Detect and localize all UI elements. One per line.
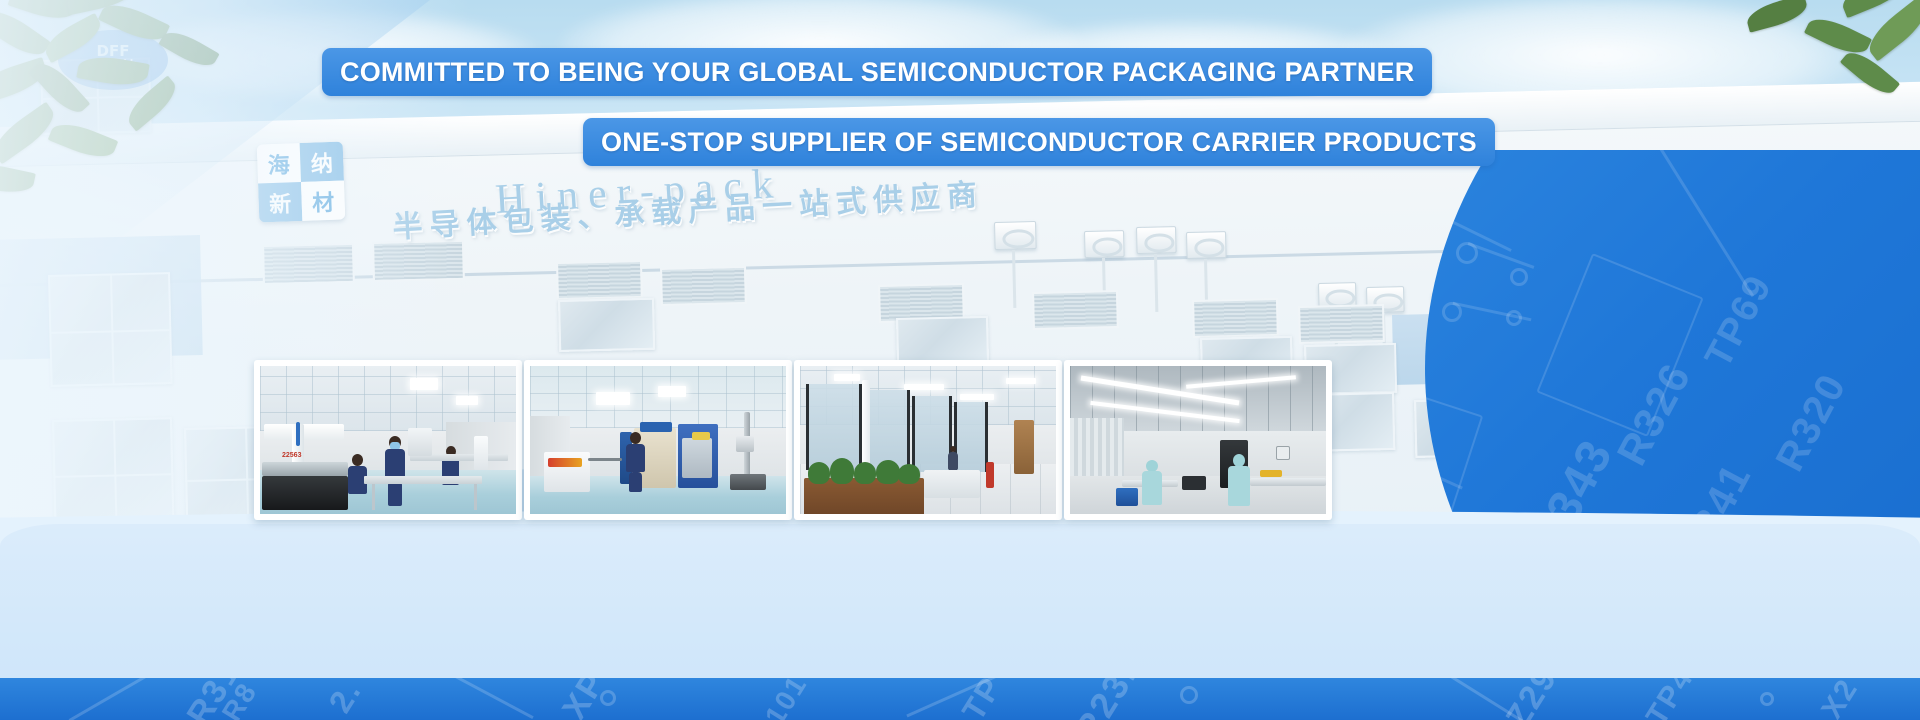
pcb-trace-line [69,678,192,720]
wall-panel-display [692,432,710,440]
photo-thumbnail-strip: 22563 [0,0,1920,720]
pcb-trace-line [426,678,533,719]
pcb-pad-icon [1180,686,1198,704]
banner-stage: 海 纳 新 材 Hiner-pack 半导体包装、承载产品一站式供应商 DFF … [0,0,1920,720]
glass-partition [912,396,952,472]
photo-card-office[interactable] [794,360,1062,520]
gowned-operator [1142,460,1162,508]
pcb-code-text: R23K [1066,678,1155,720]
cmm-granite-base [262,462,348,476]
equipment-box [1182,476,1206,490]
office-area-photo [800,366,1056,514]
pcb-code-text: X2 [1815,678,1865,720]
test-chamber-blue-door [682,438,712,478]
technician [626,432,646,490]
photo-card-testing-lab[interactable] [524,360,792,520]
cmm-probe [296,422,300,446]
cmm-cabinet [262,476,348,510]
pcb-code-text: XP [555,678,614,720]
yellow-tray [1260,470,1282,477]
drop-test-base [730,474,766,490]
photo-card-cleanroom[interactable] [1064,360,1332,520]
green-plant [898,464,920,484]
red-equipment [986,462,994,488]
inspection-bench [364,476,482,484]
chiller-label [548,458,582,467]
wooden-door [1014,420,1034,474]
cmm-machine [264,424,344,440]
cleanroom-photo [1070,366,1326,514]
pcb-code-text: Z29 [1499,678,1566,720]
green-plant [854,462,876,484]
vision-measuring-machine [408,428,432,456]
wall-control-box [1276,446,1290,460]
pcb-code-text: TP4 [1640,678,1701,720]
reception-counter [924,470,980,498]
photo-card-metrology-lab[interactable]: 22563 [254,360,522,520]
gowned-operator [1228,454,1250,508]
test-chamber-control-panel [640,422,672,432]
green-plant [808,462,830,484]
work-table [1250,478,1326,486]
green-plant [876,460,900,484]
glass-partition [806,384,862,470]
pcb-code-text: 101 [759,678,814,720]
cable-hose [588,458,622,461]
reliability-testing-lab-photo [530,366,786,514]
pcb-pad-icon [1760,692,1774,706]
green-plant [830,458,854,484]
drop-test-carriage [736,436,754,452]
glass-partition [954,402,988,472]
technician [384,436,406,506]
pcb-code-text: TP [955,678,1010,720]
machine-label: 22563 [282,452,301,459]
bottom-pcb-band: R31 2. XP TP R23K Z29 TP4 R8 101 X2 [0,678,1920,720]
office-worker [948,446,958,472]
blue-bin [1116,488,1138,506]
pcb-code-text: 2. [322,678,370,719]
lab-equipment [474,436,488,470]
metrology-lab-photo: 22563 [260,366,516,514]
